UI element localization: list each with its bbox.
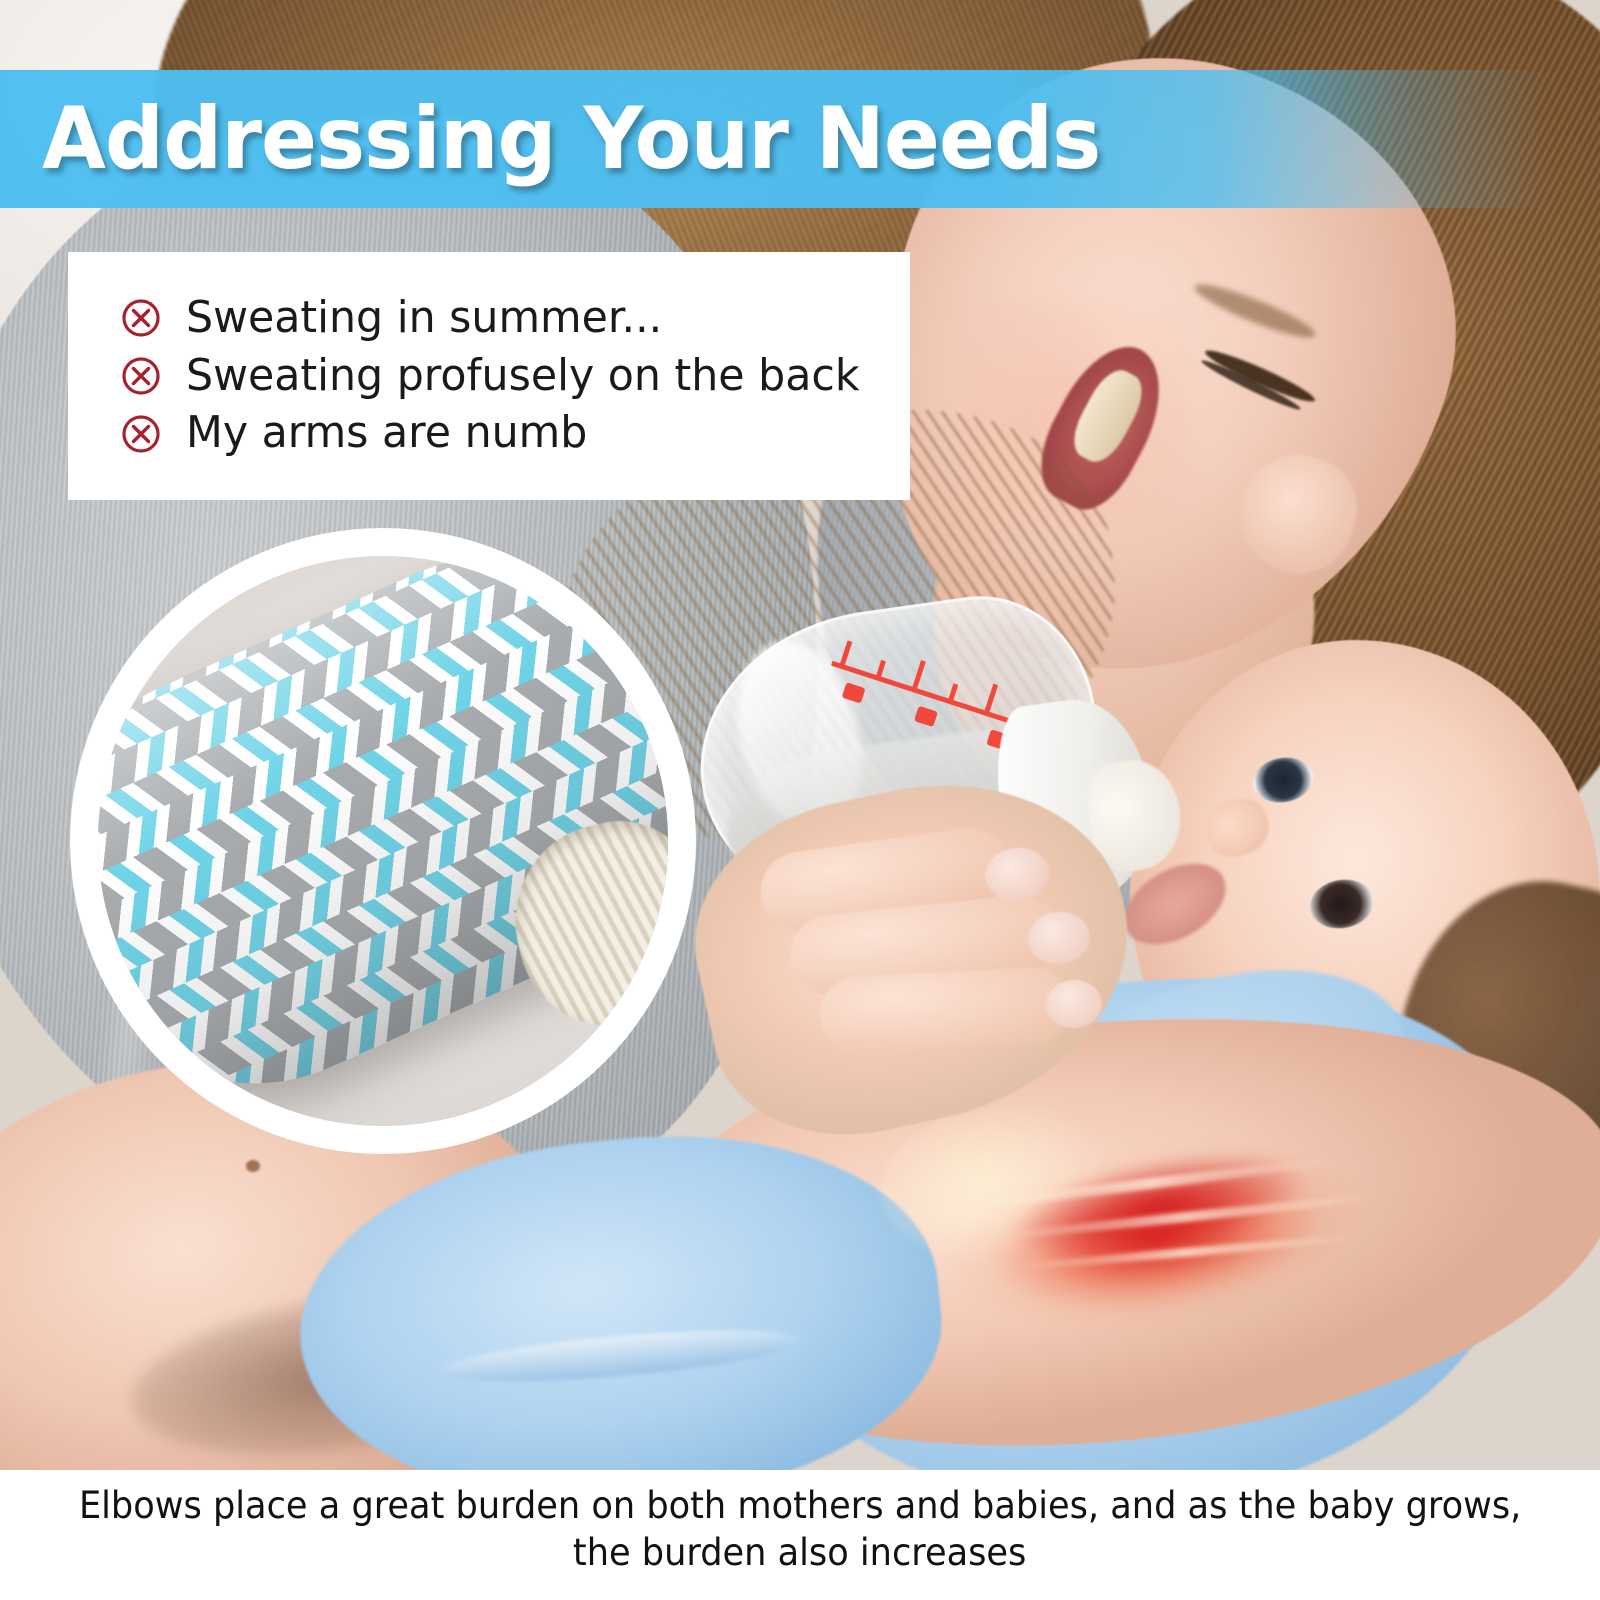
- caption-line-2: the burden also increases: [573, 1529, 1026, 1576]
- list-item: Sweating profusely on the back: [120, 353, 910, 400]
- bottom-caption: Elbows place a great burden on both moth…: [0, 1470, 1600, 1600]
- skin-mole: [246, 1160, 260, 1172]
- header-banner: Addressing Your Needs: [0, 70, 1600, 208]
- circled-x-icon: [120, 297, 162, 339]
- pain-point-label: Sweating in summer...: [186, 295, 662, 342]
- list-item: My arms are numb: [120, 410, 910, 457]
- page-title: Addressing Your Needs: [42, 96, 1100, 182]
- pain-points-card: Sweating in summer... Sweating profusely…: [68, 252, 910, 500]
- finger: [818, 966, 1072, 1055]
- circled-x-icon: [120, 355, 162, 397]
- infographic-page: Addressing Your Needs Sweating in summer…: [0, 0, 1600, 1600]
- circled-x-icon: [120, 413, 162, 455]
- product-inset-circle: [70, 528, 696, 1154]
- product-inset-clip: [98, 556, 668, 1126]
- list-item: Sweating in summer...: [120, 295, 910, 342]
- pain-point-label: My arms are numb: [186, 410, 587, 457]
- pain-point-label: Sweating profusely on the back: [186, 353, 860, 400]
- caption-line-1: Elbows place a great burden on both moth…: [79, 1482, 1521, 1529]
